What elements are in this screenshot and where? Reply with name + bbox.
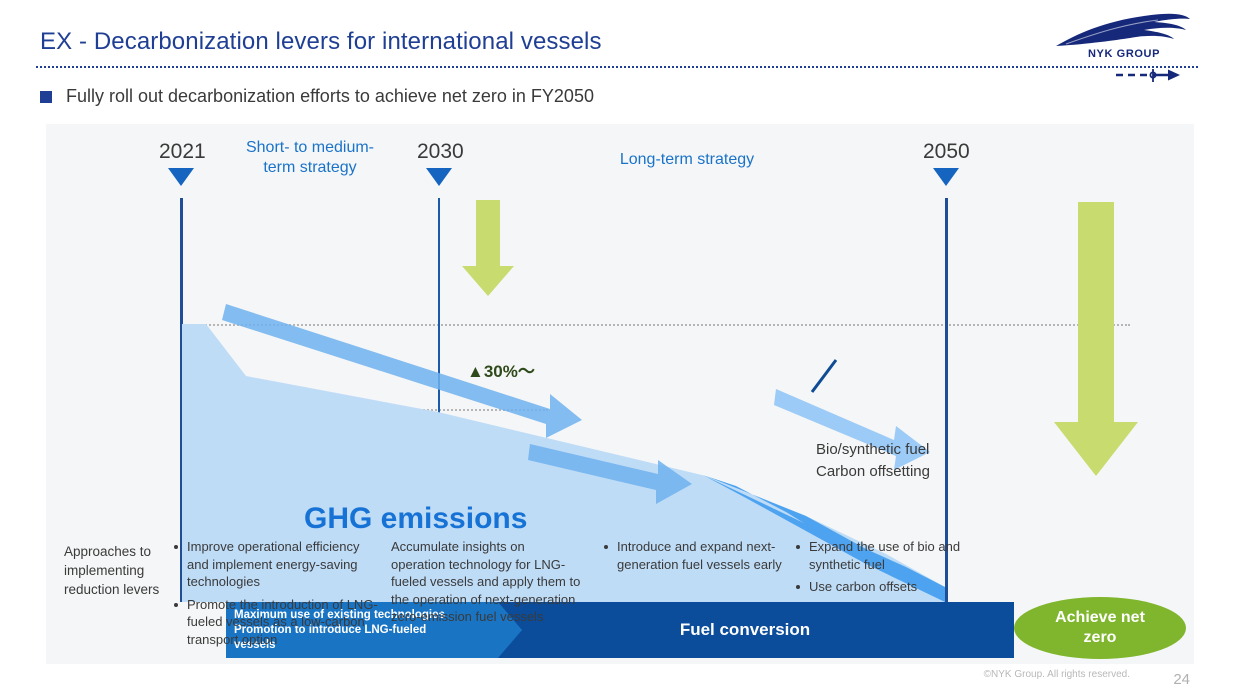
list-item: Improve operational efficiency and imple… — [174, 538, 379, 591]
header-divider — [36, 66, 1198, 68]
bullet-dot-icon — [796, 545, 800, 549]
logo-anchor-arrow-icon — [1116, 64, 1180, 86]
reduction-arrow-2030 — [462, 200, 514, 296]
list-item-text: Improve operational efficiency and imple… — [187, 538, 379, 591]
annotation-line-2: Carbon offsetting — [816, 461, 930, 483]
page-title: EX - Decarbonization levers for internat… — [40, 28, 602, 56]
list-item: Promote the introduction of LNG-fueled v… — [174, 596, 379, 649]
list-item: Expand the use of bio and synthetic fuel — [796, 538, 966, 573]
headline: Fully roll out decarbonization efforts t… — [40, 86, 594, 107]
bullet-dot-icon — [604, 545, 608, 549]
approaches-row-label: Approaches to implementing reduction lev… — [64, 542, 176, 599]
list-item: Accumulate insights on operation technol… — [391, 538, 581, 626]
decarbonization-roadmap-panel: 2021 2030 2050 Short- to medium- term st… — [46, 124, 1194, 664]
logo-wordmark: NYK GROUP — [1068, 48, 1180, 60]
page-number: 24 — [1173, 671, 1190, 688]
copyright-notice: ©NYK Group. All rights reserved. — [984, 669, 1130, 680]
annotation-line-1: Bio/synthetic fuel — [816, 439, 930, 461]
list-item-text: Expand the use of bio and synthetic fuel — [809, 538, 966, 573]
approaches-column-3: Introduce and expand next-generation fue… — [604, 538, 782, 578]
list-item: Introduce and expand next-generation fue… — [604, 538, 782, 573]
goal-badge-achieve-net-zero[interactable]: Achieve net zero — [1014, 597, 1186, 659]
bullet-dot-icon — [174, 603, 178, 607]
goal-line-1: Achieve net — [1055, 608, 1145, 628]
bullet-dot-icon — [796, 585, 800, 589]
net-zero-arrow — [1054, 202, 1138, 476]
annotation-leader-line — [812, 360, 836, 392]
reduction-percent-label: ▲30%～ — [467, 357, 535, 382]
list-item-text: Introduce and expand next-generation fue… — [617, 538, 782, 573]
approaches-column-1: Improve operational efficiency and imple… — [174, 538, 379, 653]
bullet-dot-icon — [174, 545, 178, 549]
list-item-text: Use carbon offsets — [809, 578, 966, 596]
list-item-text: Promote the introduction of LNG-fueled v… — [187, 596, 379, 649]
approaches-column-4: Expand the use of bio and synthetic fuel… — [796, 538, 966, 601]
headline-text: Fully roll out decarbonization efforts t… — [66, 86, 594, 107]
annotation-bio-synthetic-fuel: Bio/synthetic fuel Carbon offsetting — [816, 439, 930, 483]
chart-series-label-ghg: GHG emissions — [304, 502, 527, 536]
approaches-column-2: Accumulate insights on operation technol… — [391, 538, 581, 631]
nyk-group-logo: NYK GROUP — [1050, 12, 1200, 70]
list-item: Use carbon offsets — [796, 578, 966, 596]
square-bullet-icon — [40, 91, 52, 103]
list-item-text: Accumulate insights on operation technol… — [391, 538, 581, 626]
goal-line-2: zero — [1055, 628, 1145, 648]
